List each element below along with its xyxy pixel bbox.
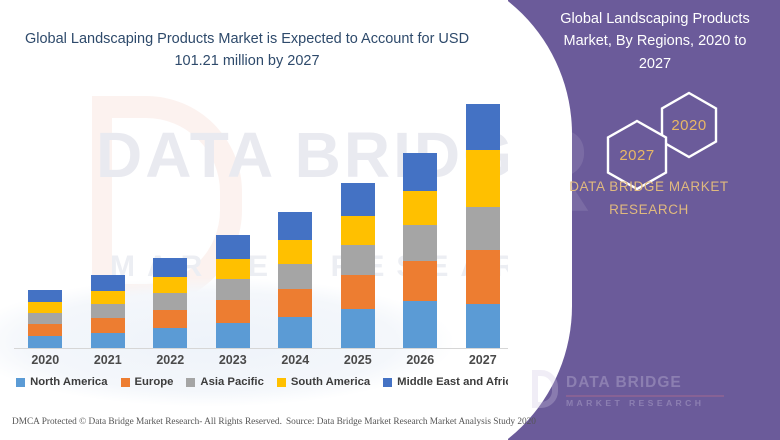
logo-b-icon [532,370,558,408]
bar-segment [216,279,250,300]
hexagon-2027-label: 2027 [619,147,654,164]
x-label-2020: 2020 [15,353,75,367]
bar-segment [153,310,187,328]
bar-segment [278,317,312,348]
bar-2021 [91,275,125,348]
bar-segment [153,277,187,293]
bar-segment [91,333,125,348]
bar-segment [28,324,62,336]
x-label-2024: 2024 [265,353,325,367]
legend-label: North America [30,376,107,388]
brand-line-2: RESEARCH [536,199,762,222]
bar-segment [153,258,187,277]
bar-2023 [216,235,250,348]
legend-item[interactable]: North America [16,376,107,388]
legend-label: Europe [135,376,174,388]
bar-segment [341,245,375,275]
legend-swatch-icon [121,378,130,387]
bar-segment [403,191,437,225]
bar-2027 [466,104,500,348]
bar-2020 [28,290,62,348]
bar-segment [466,250,500,304]
legend-swatch-icon [277,378,286,387]
footer-copyright: DMCA Protected © Data Bridge Market Rese… [12,417,282,427]
bar-segment [341,183,375,216]
legend-label: Middle East and Africa [397,376,518,388]
bar-segment [341,216,375,244]
bar-2026 [403,153,437,348]
footer: DMCA Protected © Data Bridge Market Rese… [0,410,780,440]
footer-source: Source: Data Bridge Market Research Mark… [286,417,536,427]
brand-line-1: DATA BRIDGE MARKET [536,176,762,199]
bar-segment [403,153,437,191]
logo-title: DATA BRIDGE [566,374,682,392]
bar-segment [278,289,312,317]
legend-item[interactable]: Europe [121,376,174,388]
x-label-2026: 2026 [390,353,450,367]
x-label-2022: 2022 [140,353,200,367]
bar-segment [466,207,500,250]
bar-segment [28,290,62,303]
x-label-2027: 2027 [453,353,513,367]
panel-title: Global Landscaping Products Market, By R… [548,8,762,75]
bar-2024 [278,212,312,348]
bar-segment [28,336,62,348]
bar-segment [403,225,437,261]
chart-title: Global Landscaping Products Market is Ex… [22,28,472,73]
bar-segment [91,291,125,304]
stacked-bar-plot [14,104,514,348]
bar-segment [216,259,250,279]
brand-name: DATA BRIDGE MARKET RESEARCH [536,176,762,222]
bar-segment [91,275,125,291]
x-label-2021: 2021 [78,353,138,367]
legend-item[interactable]: Asia Pacific [186,376,263,388]
legend-label: Asia Pacific [200,376,263,388]
bar-2025 [341,183,375,348]
hexagon-2020-label: 2020 [671,117,706,134]
x-axis-line [14,348,514,349]
bar-2022 [153,258,187,348]
bar-segment [28,313,62,324]
bar-segment [466,150,500,206]
logo-subtitle: MARKET RESEARCH [566,398,704,408]
legend-swatch-icon [16,378,25,387]
legend-item[interactable]: Middle East and Africa [383,376,518,388]
legend-swatch-icon [186,378,195,387]
bar-segment [466,304,500,348]
bar-segment [466,104,500,150]
bar-segment [216,323,250,348]
bar-segment [403,301,437,348]
legend-swatch-icon [383,378,392,387]
bar-segment [91,304,125,318]
bar-segment [403,261,437,301]
legend-item[interactable]: South America [277,376,370,388]
x-axis-labels: 20202021202220232024202520262027 [14,353,514,373]
bar-segment [91,318,125,332]
chart-legend: North AmericaEuropeAsia PacificSouth Ame… [14,376,520,388]
brand-panel: R Global Landscaping Products Market, By… [508,0,780,440]
bar-segment [153,293,187,310]
bar-segment [341,275,375,309]
bar-segment [216,300,250,323]
bar-segment [153,328,187,348]
infographic-slide: DATA BRIDGE MARKET RESEARCH Global Lands… [0,0,780,440]
x-label-2023: 2023 [203,353,263,367]
x-label-2025: 2025 [328,353,388,367]
bar-segment [216,235,250,259]
bar-segment [278,264,312,289]
chart-panel: Global Landscaping Products Market is Ex… [0,0,560,440]
bar-segment [28,302,62,313]
bar-segment [278,240,312,264]
legend-label: South America [291,376,370,388]
bar-segment [341,309,375,348]
bar-segment [278,212,312,240]
logo-divider [566,395,724,397]
